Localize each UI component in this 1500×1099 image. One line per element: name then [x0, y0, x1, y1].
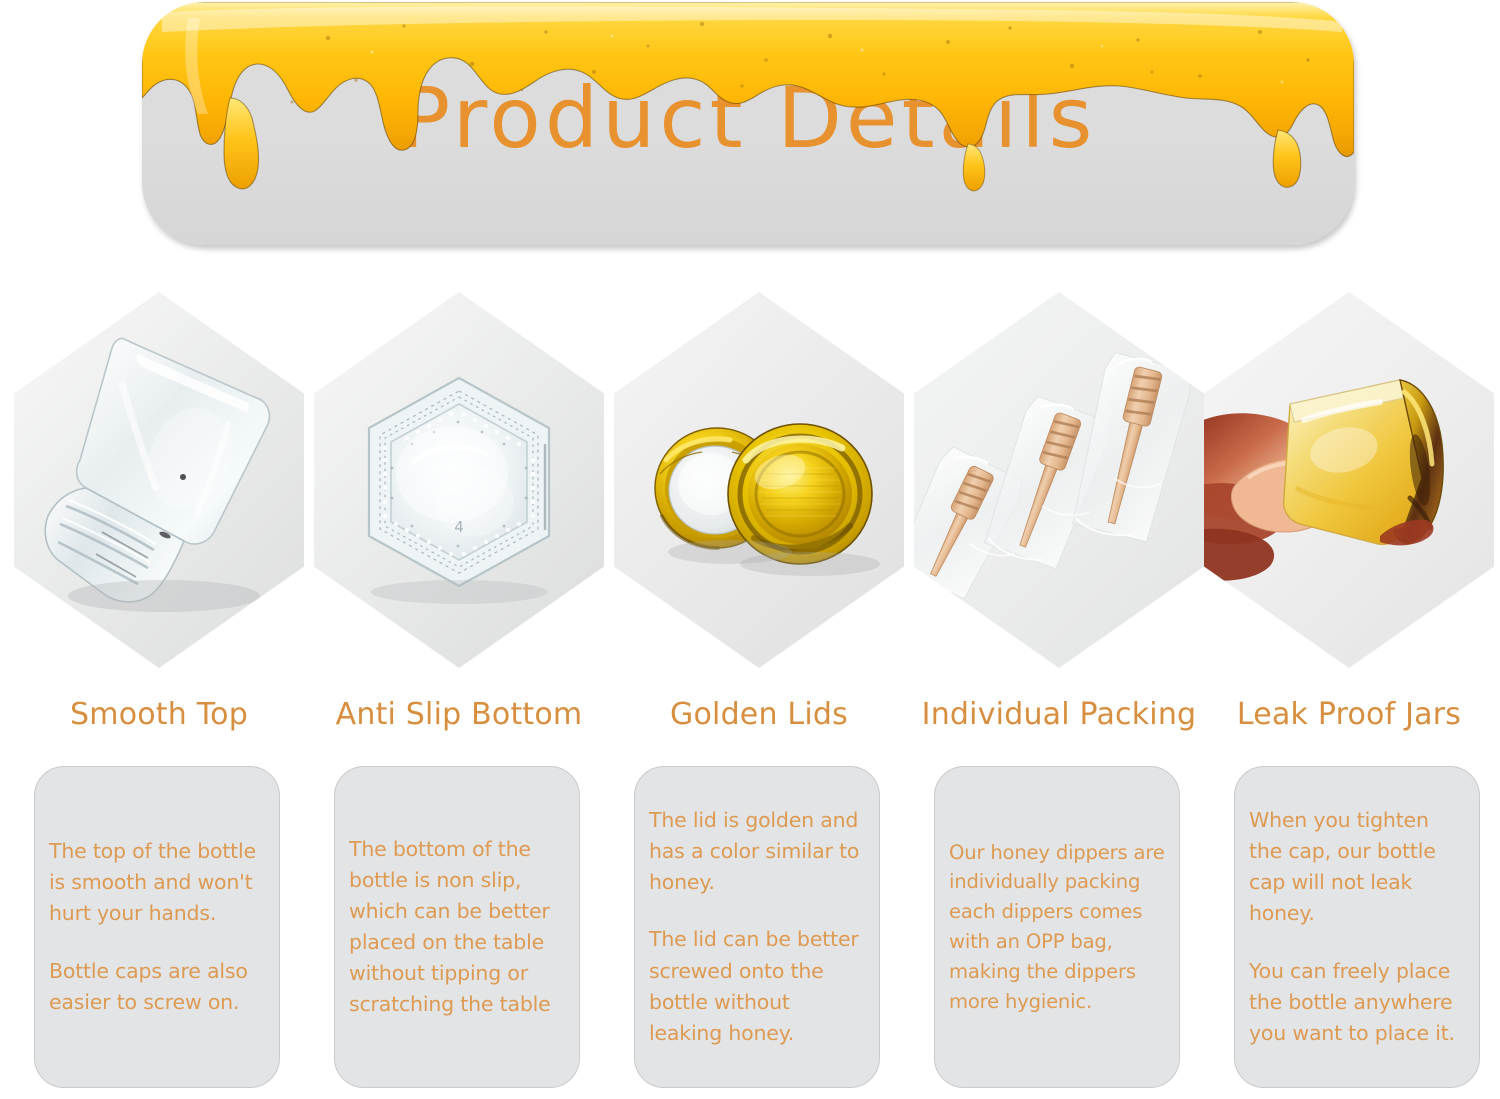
- feature-label-anti-slip-bottom: Anti Slip Bottom: [309, 698, 609, 731]
- feature-card-leak-proof-jars: When you tighten the cap, our bottle cap…: [1234, 766, 1480, 1088]
- feature-image-row: 4: [0, 292, 1500, 672]
- feature-paragraph: Our honey dippers are individually packi…: [949, 838, 1167, 1017]
- feature-photo-leak-proof-jars: [1204, 292, 1494, 668]
- feature-paragraph: You can freely place the bottle anywhere…: [1249, 956, 1467, 1049]
- feature-paragraph: The bottom of the bottle is non slip, wh…: [349, 834, 567, 1021]
- feature-paragraph: The top of the bottle is smooth and won'…: [49, 836, 267, 929]
- svg-text:4: 4: [454, 518, 464, 536]
- feature-photo-anti-slip-bottom: 4: [314, 292, 604, 668]
- feature-paragraph: The lid is golden and has a color simila…: [649, 805, 867, 898]
- feature-photo-individual-packing: [914, 292, 1204, 668]
- feature-card-individual-packing: Our honey dippers are individually packi…: [934, 766, 1180, 1088]
- feature-label-golden-lids: Golden Lids: [609, 698, 909, 731]
- page-title: Product Details: [142, 76, 1354, 160]
- feature-label-individual-packing: Individual Packing: [909, 698, 1209, 731]
- feature-paragraph: When you tighten the cap, our bottle cap…: [1249, 805, 1467, 930]
- feature-card-anti-slip-bottom: The bottom of the bottle is non slip, wh…: [334, 766, 580, 1088]
- feature-photo-golden-lids: [614, 292, 904, 668]
- product-details-banner: Product Details: [142, 2, 1354, 245]
- feature-paragraph: The lid can be better screwed onto the b…: [649, 924, 867, 1049]
- feature-label-smooth-top: Smooth Top: [9, 698, 309, 731]
- feature-photo-smooth-top: [14, 292, 304, 668]
- feature-label-leak-proof-jars: Leak Proof Jars: [1199, 698, 1499, 731]
- feature-card-golden-lids: The lid is golden and has a color simila…: [634, 766, 880, 1088]
- feature-card-smooth-top: The top of the bottle is smooth and won'…: [34, 766, 280, 1088]
- feature-paragraph: Bottle caps are also easier to screw on.: [49, 956, 267, 1018]
